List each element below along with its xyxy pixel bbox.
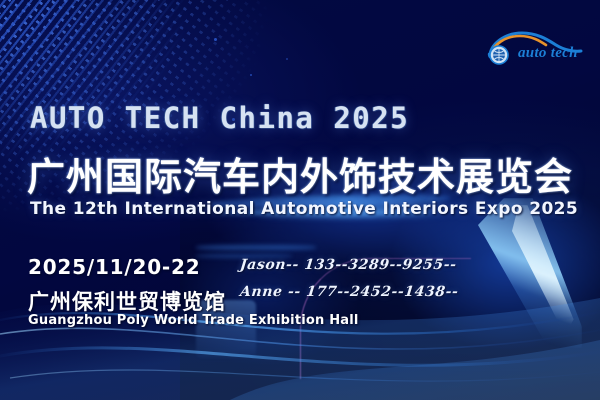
auto-tech-logo[interactable]: auto tech	[482, 28, 586, 70]
event-date: 2025/11/20-22	[28, 255, 200, 279]
venue-name-chinese: 广州保利世贸博览馆	[28, 286, 226, 316]
exhibition-poster: auto tech AUTO TECH China 2025 广州国际汽车内外饰…	[0, 0, 600, 400]
light-ribbon-waves	[0, 260, 600, 400]
event-title-chinese: 广州国际汽车内外饰技术展览会	[27, 146, 573, 201]
contact-line-anne: Anne -- 177--2452--1438--	[239, 284, 459, 300]
venue-name-english: Guangzhou Poly World Trade Exhibition Ha…	[28, 313, 359, 328]
event-subtitle-english: The 12th International Automotive Interi…	[30, 199, 578, 219]
logo-text: auto tech	[518, 45, 578, 62]
contact-line-jason: Jason-- 133--3289--9255--	[239, 257, 457, 273]
event-title-english: AUTO TECH China 2025	[30, 101, 409, 135]
